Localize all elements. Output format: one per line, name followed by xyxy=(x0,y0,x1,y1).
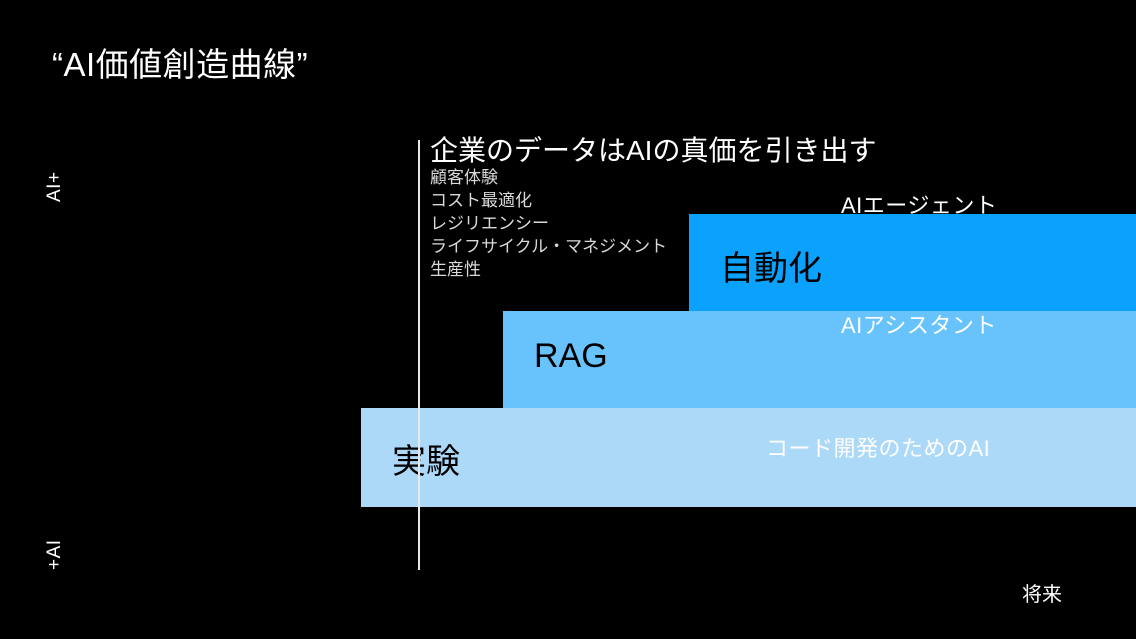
stage-bar-label-rag: RAG xyxy=(534,337,608,376)
stage-bar-label-automation: 自動化 xyxy=(720,241,822,290)
stage-caption-ai-assistant: AIアシスタント xyxy=(841,308,997,340)
stage-bar-automation: 自動化 xyxy=(689,214,1136,311)
stage-caption-code-ai: コード開発のためのAI xyxy=(766,431,990,463)
list-item: レジリエンシー xyxy=(430,212,667,235)
stage-bar-experiment: 実験 xyxy=(361,408,1136,507)
list-item: 顧客体験 xyxy=(430,166,667,189)
callout-headline: 企業のデータはAIの真価を引き出す xyxy=(430,129,876,169)
stage-bar-rag: RAG xyxy=(503,311,1136,408)
axis-label-plus-ai: +AI xyxy=(44,539,66,570)
page-title: “AI価値創造曲線” xyxy=(52,38,308,86)
list-item: ライフサイクル・マネジメント xyxy=(430,235,667,258)
stage-bar-label-experiment: 実験 xyxy=(392,434,460,483)
slide-canvas: “AI価値創造曲線” AI+ +AI 自動化 RAG 実験 AIエージェント A… xyxy=(0,0,1136,639)
list-item: コスト最適化 xyxy=(430,189,667,212)
vertical-divider-line xyxy=(418,140,420,570)
callout-benefit-list: 顧客体験 コスト最適化 レジリエンシー ライフサイクル・マネジメント 生産性 xyxy=(430,166,667,281)
list-item: 生産性 xyxy=(430,258,667,281)
axis-label-ai-plus: AI+ xyxy=(44,171,66,202)
axis-label-future: 将来 xyxy=(1022,578,1062,607)
stage-caption-ai-agent: AIエージェント xyxy=(841,188,997,220)
